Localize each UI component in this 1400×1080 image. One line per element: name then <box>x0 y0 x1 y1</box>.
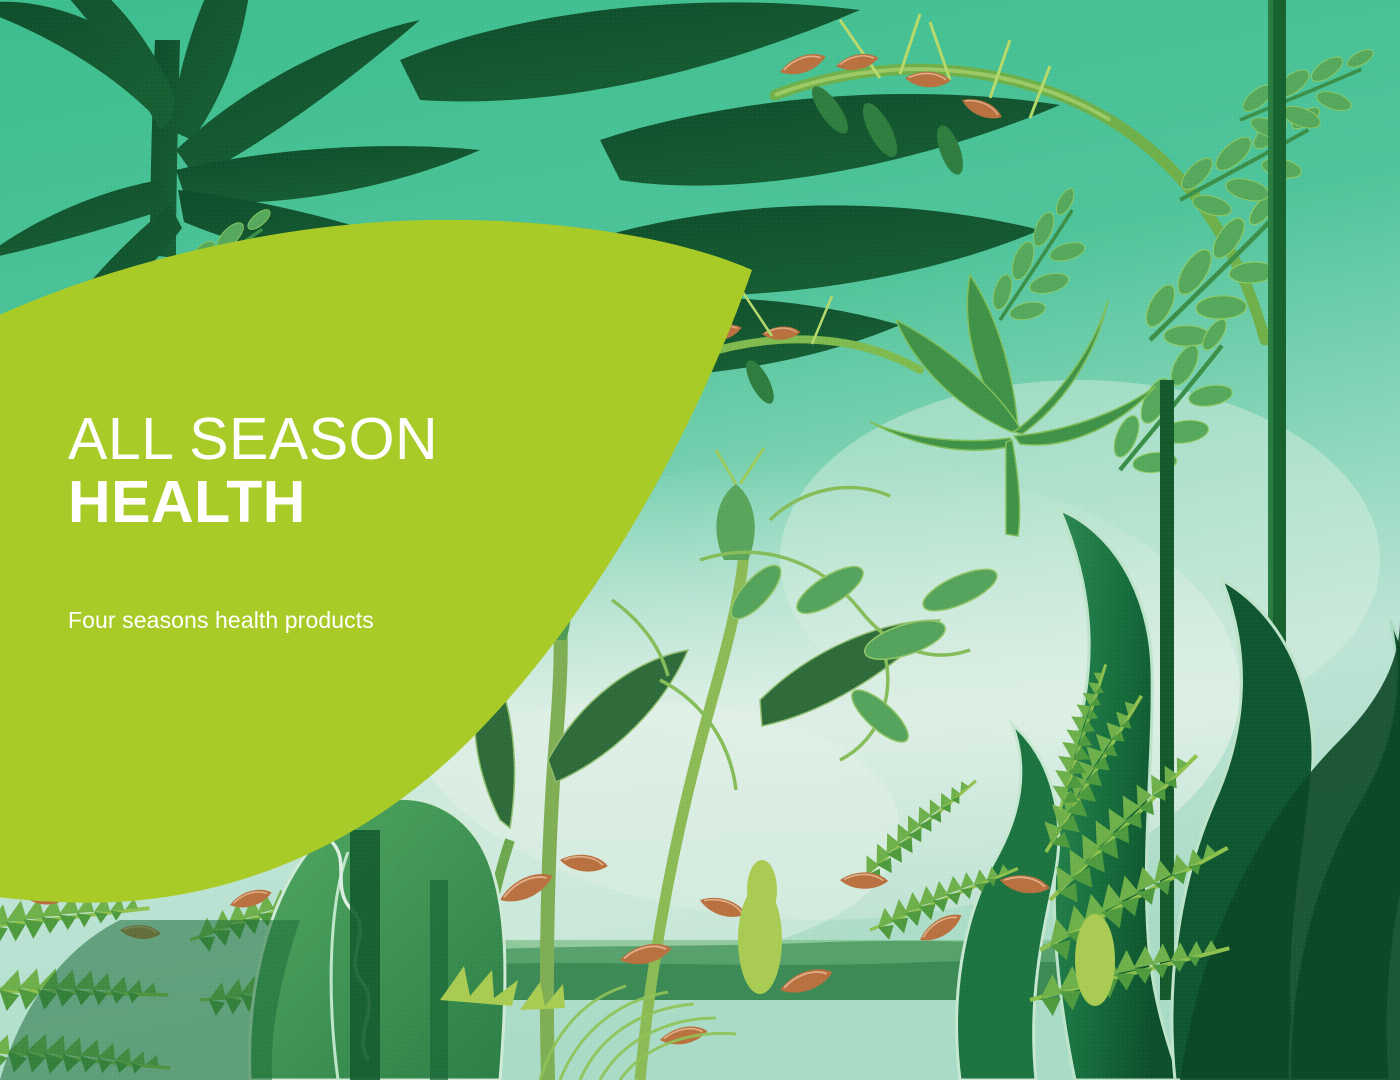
poster-canvas: ALL SEASON HEALTH Four seasons health pr… <box>0 0 1400 1080</box>
title-line-1: ALL SEASON <box>68 408 588 471</box>
subtitle: Four seasons health products <box>68 533 588 634</box>
headline-text-block: ALL SEASON HEALTH Four seasons health pr… <box>68 408 588 634</box>
title-line-2: HEALTH <box>68 471 588 534</box>
